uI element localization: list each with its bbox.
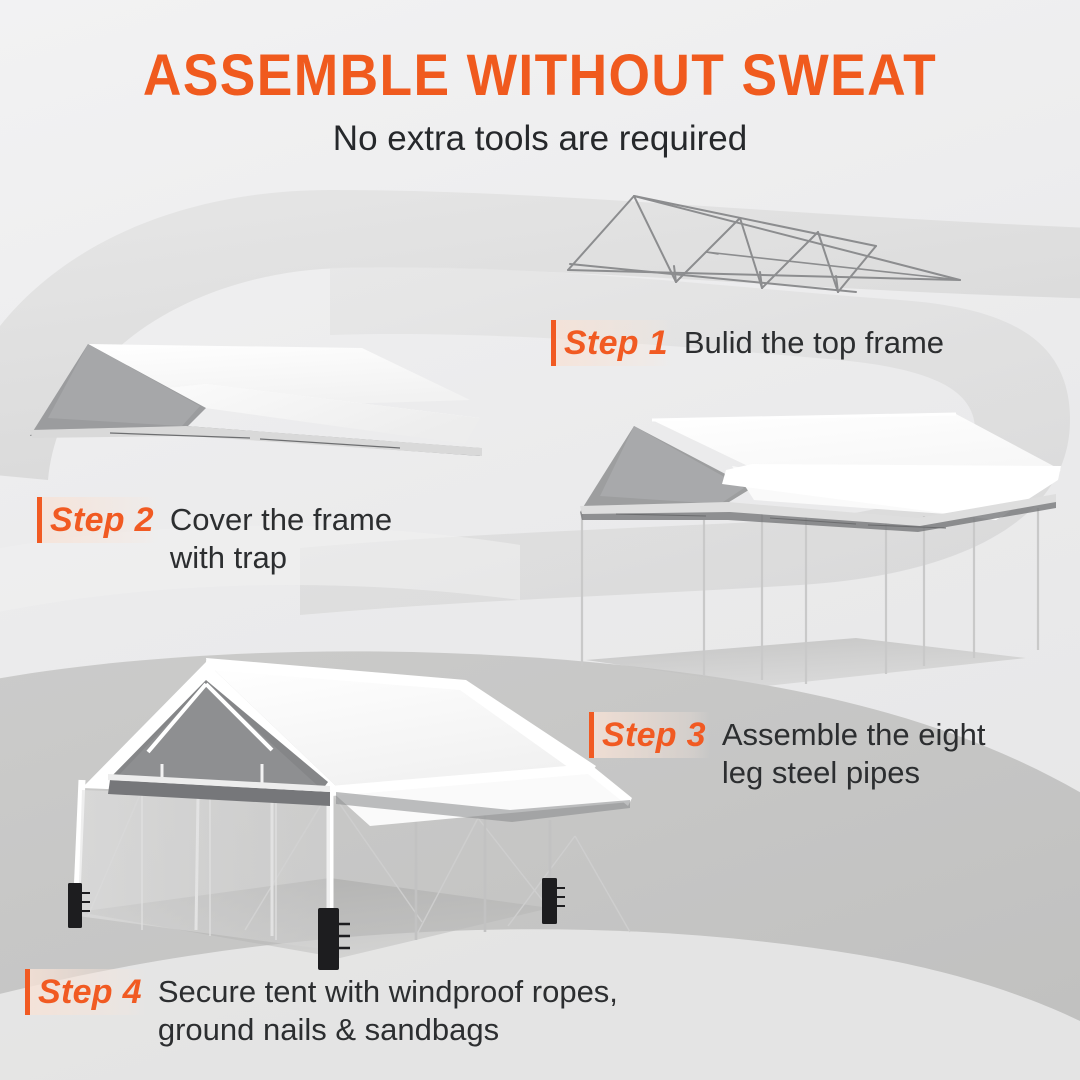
step-1-tag: Step 1	[551, 320, 672, 366]
step-2-description: Cover the frame with trap	[158, 497, 392, 577]
illustration-step-2-covered-roof	[10, 326, 490, 471]
header: ASSEMBLE WITHOUT SWEAT No extra tools ar…	[0, 0, 1080, 158]
step-1-name: Step 1	[564, 320, 668, 366]
page-title: ASSEMBLE WITHOUT SWEAT	[43, 0, 1037, 105]
step-2-tag: Step 2	[37, 497, 158, 543]
step-1-accent-bar	[551, 320, 556, 366]
page-subtitle: No extra tools are required	[0, 105, 1080, 158]
step-4-label: Step 4 Secure tent with windproof ropes,…	[25, 969, 618, 1049]
step-4-description: Secure tent with windproof ropes, ground…	[146, 969, 618, 1049]
step-3-accent-bar	[589, 712, 594, 758]
step-4-name: Step 4	[38, 969, 142, 1015]
step-2-name: Step 2	[50, 497, 154, 543]
step-4-tag: Step 4	[25, 969, 146, 1015]
step-2-label: Step 2 Cover the frame with trap	[37, 497, 392, 577]
step-3-description: Assemble the eight leg steel pipes	[710, 712, 986, 792]
step-3-label: Step 3 Assemble the eight leg steel pipe…	[589, 712, 986, 792]
step-2-accent-bar	[37, 497, 42, 543]
carport-secured-graphic	[30, 640, 730, 970]
infographic-page: ASSEMBLE WITHOUT SWEAT No extra tools ar…	[0, 0, 1080, 1080]
illustration-step-1-top-frame	[556, 188, 976, 313]
step-4-accent-bar	[25, 969, 30, 1015]
step-3-name: Step 3	[602, 712, 706, 758]
step-1-description: Bulid the top frame	[672, 320, 944, 362]
illustration-step-4-secured-carport	[30, 640, 730, 975]
top-frame-truss-graphic	[556, 188, 976, 308]
canopy-roof-graphic	[10, 326, 490, 466]
step-1-label: Step 1 Bulid the top frame	[551, 320, 944, 366]
step-3-tag: Step 3	[589, 712, 710, 758]
